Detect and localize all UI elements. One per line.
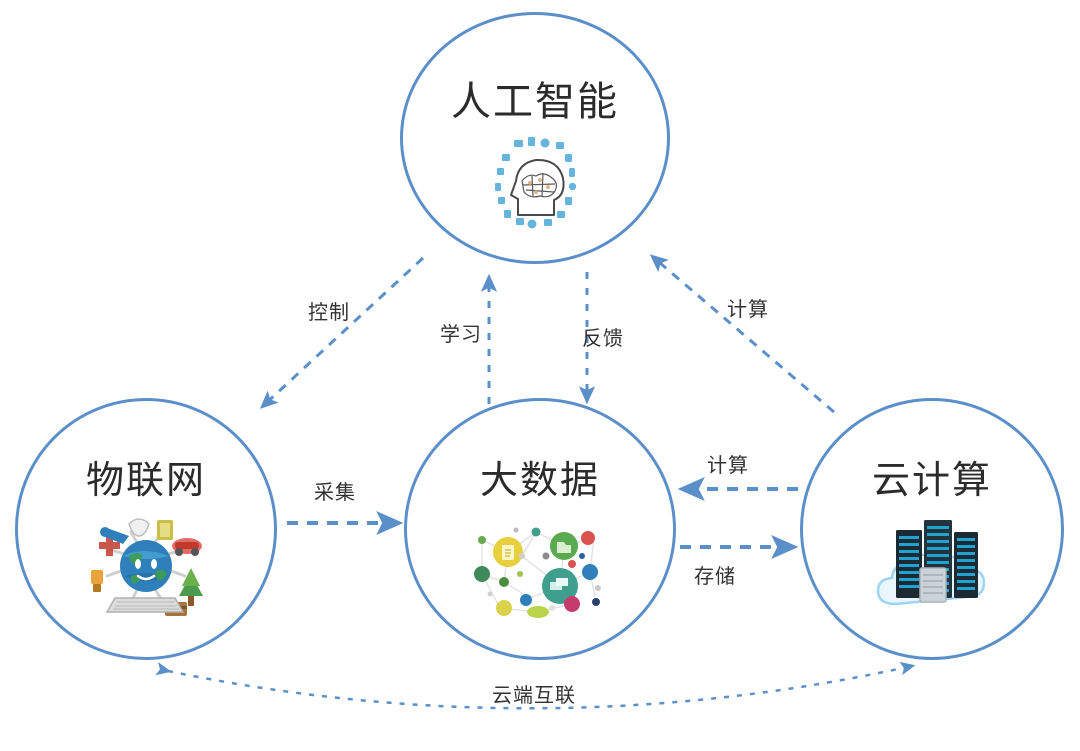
server-cloud-icon <box>862 510 1002 620</box>
node-internet-of-things[interactable]: 物联网 <box>15 398 277 660</box>
edge-cloud-to-ai <box>653 257 834 412</box>
edge-ai-to-iot <box>263 258 423 406</box>
edge-label-compute-to-bigdata: 计算 <box>707 449 749 478</box>
connected-globe-icon <box>71 510 221 620</box>
node-cloud-computing[interactable]: 云计算 <box>800 398 1064 660</box>
node-iot-label: 物联网 <box>86 449 206 504</box>
edge-label-storage: 存储 <box>694 560 736 589</box>
diagram-canvas: 人工智能 <box>0 0 1080 751</box>
node-big-data[interactable]: 大数据 <box>404 398 676 660</box>
node-bigdata-label: 大数据 <box>480 449 600 504</box>
brain-head-icon <box>470 137 600 237</box>
edge-label-feedback: 反馈 <box>582 322 624 351</box>
edge-label-learning: 学习 <box>440 318 482 347</box>
edge-label-cloud-interconnect: 云端互联 <box>492 679 576 708</box>
node-ai-label: 人工智能 <box>451 69 619 127</box>
edge-label-collect: 采集 <box>314 476 356 505</box>
node-cloud-label: 云计算 <box>872 449 992 504</box>
edge-label-compute-to-ai: 计算 <box>727 293 769 322</box>
edge-label-control: 控制 <box>308 296 350 325</box>
node-network-icon <box>460 512 620 622</box>
node-artificial-intelligence[interactable]: 人工智能 <box>400 12 670 264</box>
